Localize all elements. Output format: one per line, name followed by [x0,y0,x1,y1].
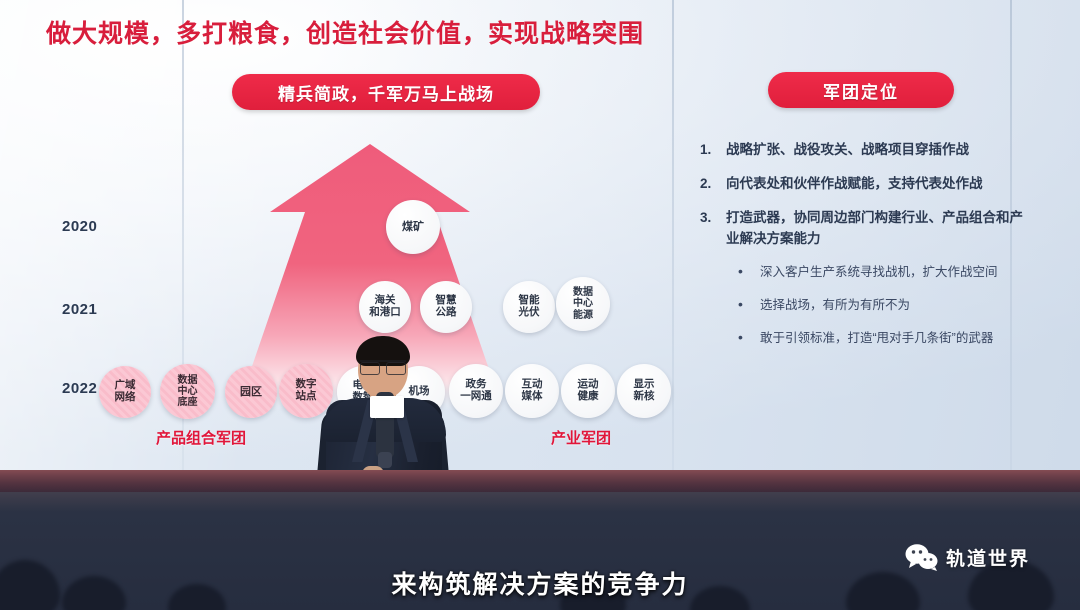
sub-bullet-list: • 深入客户生产系统寻找战机，扩大作战空间 • 选择战场，有所为有所不为 • 敢… [738,263,1030,349]
year-label-2022: 2022 [62,380,97,397]
item-text: 打造武器，协同周边部门构建行业、产品组合和产业解决方案能力 [726,208,1030,250]
group-label-sector: 产业军团 [551,427,611,448]
bubble-smart-pv: 智能 光伏 [503,281,555,333]
numbered-item: 2. 向代表处和伙伴作战赋能，支持代表处作战 [700,174,1030,195]
slide-title: 做大规模，多打粮食，创造社会价值，实现战略突围 [46,14,644,50]
speaker-glasses [360,360,406,373]
year-label-2020: 2020 [62,218,97,235]
microphone-head [378,452,392,468]
banner-pill-right: 军团定位 [768,72,954,108]
bullet-dot-icon: • [738,329,760,348]
bubble-wan-network: 广域 网络 [99,366,151,418]
bullet-dot-icon: • [738,296,760,315]
bubble-customs-port: 海关 和港口 [359,281,411,333]
microphone-flag [370,396,404,418]
bullet-item: • 选择战场，有所为有所不为 [738,296,1030,315]
numbered-item: 1. 战略扩张、战役攻关、战略项目穿插作战 [700,140,1030,161]
stage-front-band [0,470,1080,492]
bubble-sports-health: 运动 健康 [561,364,615,418]
bullet-text: 敢于引领标准，打造“甩对手几条街”的武器 [760,329,993,348]
bullet-item: • 敢于引领标准，打造“甩对手几条街”的武器 [738,329,1030,348]
bubble-datacenter-base: 数据 中心 底座 [160,364,215,419]
item-number: 2. [700,174,726,195]
bullet-dot-icon: • [738,263,760,282]
group-label-product: 产品组合军团 [156,427,246,448]
banner-pill-left: 精兵简政，千军万马上战场 [232,74,540,110]
bubble-coal-mine: 煤矿 [386,200,440,254]
item-number: 1. [700,140,726,161]
numbered-item: 3. 打造武器，协同周边部门构建行业、产品组合和产业解决方案能力 [700,208,1030,250]
item-text: 向代表处和伙伴作战赋能，支持代表处作战 [726,174,1030,195]
item-text: 战略扩张、战役攻关、战略项目穿插作战 [726,140,1030,161]
bubble-campus: 园区 [225,366,277,418]
bullet-text: 选择战场，有所为有所不为 [760,296,910,315]
bubble-display-newcore: 显示 新核 [617,364,671,418]
bubble-egov-onenet: 政务 一网通 [449,364,503,418]
video-caption: 来构筑解决方案的竞争力 [0,565,1080,601]
year-label-2021: 2021 [62,301,97,318]
bullet-item: • 深入客户生产系统寻找战机，扩大作战空间 [738,263,1030,282]
bubble-interactive-media: 互动 媒体 [505,364,559,418]
positioning-panel: 1. 战略扩张、战役攻关、战略项目穿插作战 2. 向代表处和伙伴作战赋能，支持代… [700,140,1030,363]
bubble-datacenter-energy: 数据 中心 能源 [556,277,610,331]
item-number: 3. [700,208,726,250]
bubble-digital-site: 数字 站点 [279,364,333,418]
bubble-smart-highway: 智慧 公路 [420,281,472,333]
bullet-text: 深入客户生产系统寻找战机，扩大作战空间 [760,263,998,282]
screen-seam-mid [672,0,674,470]
video-frame: 做大规模，多打粮食，创造社会价值，实现战略突围 精兵简政，千军万马上战场 军团定… [0,0,1080,610]
